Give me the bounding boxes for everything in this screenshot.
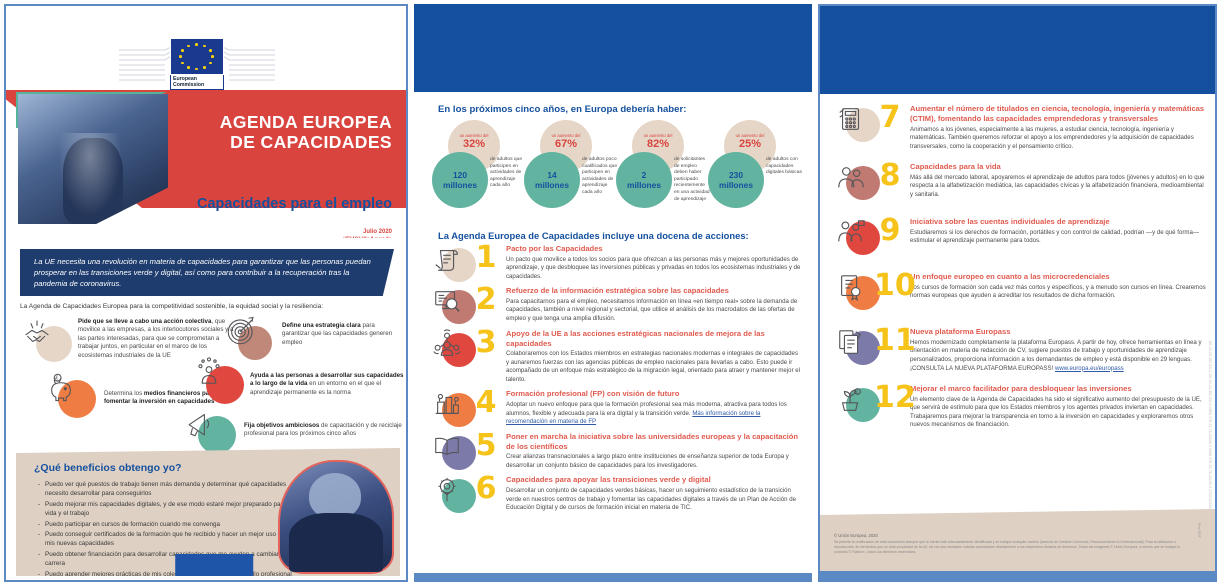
action-item-4: 4 Formación profesional (FP) con visión … (428, 389, 806, 426)
list-item: Puedo conseguir certificados de la forma… (40, 530, 295, 549)
page-title: AGENDA EUROPEA DE CAPACIDADES (220, 112, 392, 152)
action-1-title: Pacto por las Capacidades (506, 244, 802, 254)
cover-hero: European Commission AGENDA EUROPEA DE CA… (6, 6, 406, 238)
action-2-title: Refuerzo de la información estratégica s… (506, 286, 802, 296)
ec-logo-caption: European Commission (170, 75, 224, 90)
target-icon (224, 314, 258, 348)
action-12-title: Mejorar el marco facilitador para desblo… (910, 384, 1206, 394)
two-people-icon (836, 162, 866, 192)
actions-list-left: 1 Pacto por las Capacidades Un pacto que… (428, 244, 806, 518)
middle-footer-band (414, 573, 812, 582)
action-11-title: Nueva plataforma Europass (910, 327, 1206, 337)
action-8-title: Capacidades para la vida (910, 162, 1206, 172)
people-account-icon (836, 217, 866, 247)
certificate-badge-icon (836, 272, 866, 302)
action-7-title: Aumentar el número de titulados en cienc… (910, 104, 1206, 124)
stat-description: de adultos poco cualificados que partici… (582, 157, 618, 197)
action-10-number: 10 (874, 270, 906, 302)
pillar-4-text: Ayuda a las personas a desarrollar sus c… (250, 372, 406, 397)
action-11-number: 11 (874, 325, 906, 357)
copyright-section: © Unión Europea, 2020 Se permite la reut… (820, 509, 1215, 571)
action-5-number: 5 (470, 430, 502, 462)
person-growth-icon (192, 356, 226, 390)
intro-quote-banner: La UE necesita una revolución en materia… (20, 249, 394, 296)
monitor-magnifier-icon (432, 286, 462, 316)
scroll-document-icon (432, 244, 462, 274)
title-line-1: AGENDA EUROPEA (220, 112, 392, 132)
stat-value-bubble: 230 millones (708, 152, 764, 208)
action-6-description: Desarrollar un conjunto de capacidades v… (506, 487, 802, 513)
pillar-5-text: Fija objetivos ambiciosos de capacitació… (244, 422, 404, 439)
network-people-icon (432, 329, 462, 359)
pillar-1-text: Pide que se lleve a cabo una acción cole… (78, 318, 238, 360)
stat-value-number: 230 (708, 170, 764, 180)
action-11-link[interactable]: www.europa.eu/europass (1055, 365, 1124, 372)
benefits-title: ¿Qué beneficios obtengo yo? (34, 462, 182, 474)
action-8-number: 8 (874, 160, 906, 192)
page-subtitle: Capacidades para el empleo (197, 196, 392, 212)
action-1-description: Un pacto que movilice a todos los socios… (506, 256, 802, 282)
action-9-description: Estudiaremos si los derechos de formació… (910, 229, 1206, 246)
svg-text:€: € (56, 376, 59, 382)
action-7-description: Animamos a los jóvenes, especialmente a … (910, 126, 1206, 152)
stat-value-unit: millones (432, 180, 488, 190)
action-item-3: 3 Apoyo de la UE a las acciones estratég… (428, 329, 806, 385)
action-6-number: 6 (470, 473, 502, 505)
stat-card: un aumento del 32% 120 millones de adult… (432, 120, 524, 220)
portrait-photo (278, 460, 394, 574)
action-item-6: 6 Capacidades para apoyar las transicion… (428, 475, 806, 512)
eu-flag-icon (170, 38, 224, 75)
action-6-title: Capacidades para apoyar las transiciones… (506, 475, 802, 485)
title-line-2: DE CAPACIDADES (220, 132, 392, 152)
money-plant-icon: € (836, 384, 866, 414)
piggy-bank-icon: € (44, 370, 78, 404)
list-item: Puedo aprender mejores prácticas de mis … (40, 570, 295, 579)
benefits-list: Puedo ver qué puestos de trabajo tienen … (30, 480, 295, 580)
stat-description: de adultos que participen en actividades… (490, 157, 526, 190)
hashtag: #EUSkillsAgenda (343, 236, 392, 238)
european-commission-logo: European Commission (163, 38, 231, 96)
action-12-number: 12 (874, 382, 906, 414)
pillars-group: Pide que se lleve a cabo una acción cole… (14, 314, 404, 446)
list-item: Puedo participar en cursos de formación … (40, 520, 295, 529)
portrait-body (289, 513, 383, 572)
stat-value-unit: millones (524, 180, 580, 190)
action-4-description: Adoptar un nuevo enfoque para que la for… (506, 401, 802, 427)
pillar-2-text: Define una estrategia clara para garanti… (282, 322, 404, 347)
middle-panel: En los próximos cinco años, en Europa de… (414, 4, 812, 582)
right-footer-band (820, 571, 1215, 580)
stat-percent: 67% (540, 138, 592, 151)
benefits-section: ¿Qué beneficios obtengo yo? Puedo ver qu… (16, 448, 400, 576)
stat-card: un aumento del 67% 14 millones de adulto… (524, 120, 616, 220)
action-2-number: 2 (470, 284, 502, 316)
right-header-band (820, 6, 1215, 94)
stat-value-unit: millones (616, 180, 672, 190)
workshop-tools-icon (432, 389, 462, 419)
stat-value-bubble: 14 millones (524, 152, 580, 208)
green-gear-tree-icon (432, 475, 462, 505)
action-item-2: 2 Refuerzo de la información estratégica… (428, 286, 806, 323)
action-9-title: Iniciativa sobre las cuentas individuale… (910, 217, 1206, 227)
action-item-5: 5 Poner en marcha la iniciativa sobre la… (428, 432, 806, 471)
action-5-title: Poner en marcha la iniciativa sobre las … (506, 432, 802, 452)
action-item-8: 8 Capacidades para la vida Más allá del … (832, 162, 1210, 206)
stat-description: de adultos con capacidades digitales bás… (766, 157, 802, 177)
action-item-1: 1 Pacto por las Capacidades Un pacto que… (428, 244, 806, 281)
action-10-description: Los cursos de formación son cada vez más… (910, 284, 1206, 301)
handshake-icon (20, 316, 54, 350)
action-item-11: 11 Nueva plataforma Europass Hemos moder… (832, 327, 1210, 373)
stat-description: de solicitantes de empleo deben haber pa… (674, 157, 710, 203)
action-1-number: 1 (470, 242, 502, 274)
stats-group: un aumento del 32% 120 millones de adult… (432, 120, 800, 220)
blue-accent-block (175, 554, 253, 576)
publication-date: Julio 2020 (343, 228, 392, 236)
action-11-description: Hemos modernizado completamente la plata… (910, 339, 1206, 373)
list-item: Puedo ver qué puestos de trabajo tienen … (40, 480, 295, 499)
action-9-number: 9 (874, 215, 906, 247)
action-5-description: Crear alianzas transnacionales a largo p… (506, 453, 802, 470)
action-3-title: Apoyo de la UE a las acciones estratégic… (506, 329, 802, 349)
action-item-10: 10 Un enfoque europeo en cuanto a las mi… (832, 272, 1210, 316)
stats-heading: En los próximos cinco años, en Europa de… (438, 104, 686, 115)
action-2-description: Para capacitarnos para el empleo, necesi… (506, 298, 802, 324)
action-3-description: Colaboraremos con los Estados miembros e… (506, 350, 802, 384)
legal-notice: Se permite la reutilización de este docu… (834, 540, 1184, 555)
list-item: Puedo obtener financiación para desarrol… (40, 550, 295, 569)
action-item-12: € 12 Mejorar el marco facilitador para d… (832, 384, 1210, 430)
stat-value-number: 120 (432, 170, 488, 180)
calculator-icon (836, 104, 866, 134)
stat-card: un aumento del 82% 2 millones de solicit… (616, 120, 708, 220)
print-pdf-label: Print PDF (1197, 523, 1201, 538)
stat-value-bubble: 2 millones (616, 152, 672, 208)
middle-header-band (414, 4, 812, 92)
pillar-1-bold: Pide que se lleve a cabo una acción cole… (78, 318, 211, 325)
right-panel: 7 Aumentar el número de titulados en cie… (818, 4, 1217, 582)
stat-percent: 82% (632, 138, 684, 151)
action-10-title: Un enfoque europeo en cuanto a las micro… (910, 272, 1206, 282)
cover-photo-figure (63, 138, 123, 224)
action-4-title: Formación profesional (FP) con visión de… (506, 389, 802, 399)
open-book-icon (432, 432, 462, 462)
pillar-5-bold: Fija objetivos ambiciosos (244, 422, 319, 429)
action-7-number: 7 (874, 102, 906, 134)
publication-meta: Julio 2020 #EUSkillsAgenda (343, 228, 392, 238)
stat-card: un aumento del 25% 230 millones de adult… (708, 120, 800, 220)
stat-percent: 25% (724, 138, 776, 151)
stat-percent: 32% (448, 138, 500, 151)
megaphone-icon (184, 406, 218, 440)
action-item-9: 9 Iniciativa sobre las cuentas individua… (832, 217, 1210, 261)
list-item: Puedo mejorar mis capacidades digitales,… (40, 500, 295, 519)
catalogue-codes: KE-04-20-362-ES-C KE-04-20-362-ES-N ISBN… (1207, 341, 1212, 534)
cv-documents-icon (836, 327, 866, 357)
action-item-7: 7 Aumentar el número de titulados en cie… (832, 104, 1210, 151)
copyright-line: © Unión Europea, 2020 (834, 533, 878, 538)
stat-value-unit: millones (708, 180, 764, 190)
stat-value-number: 2 (616, 170, 672, 180)
pillar-2-bold: Define una estrategia clara (282, 322, 361, 329)
actions-list-right: 7 Aumentar el número de titulados en cie… (832, 104, 1210, 441)
action-12-description: Un elemento clave de la Agenda de Capaci… (910, 396, 1206, 430)
action-3-number: 3 (470, 327, 502, 359)
pillar-3-pre: Determina los (104, 390, 144, 397)
action-8-description: Más allá del mercado laboral, apoyaremos… (910, 174, 1206, 200)
left-panel: European Commission AGENDA EUROPEA DE CA… (4, 4, 408, 582)
stat-value-bubble: 120 millones (432, 152, 488, 208)
intro-lead-text: La Agenda de Capacidades Europea para la… (20, 302, 394, 311)
stat-value-number: 14 (524, 170, 580, 180)
action-4-number: 4 (470, 387, 502, 419)
infographic-page: European Commission AGENDA EUROPEA DE CA… (0, 0, 1221, 586)
